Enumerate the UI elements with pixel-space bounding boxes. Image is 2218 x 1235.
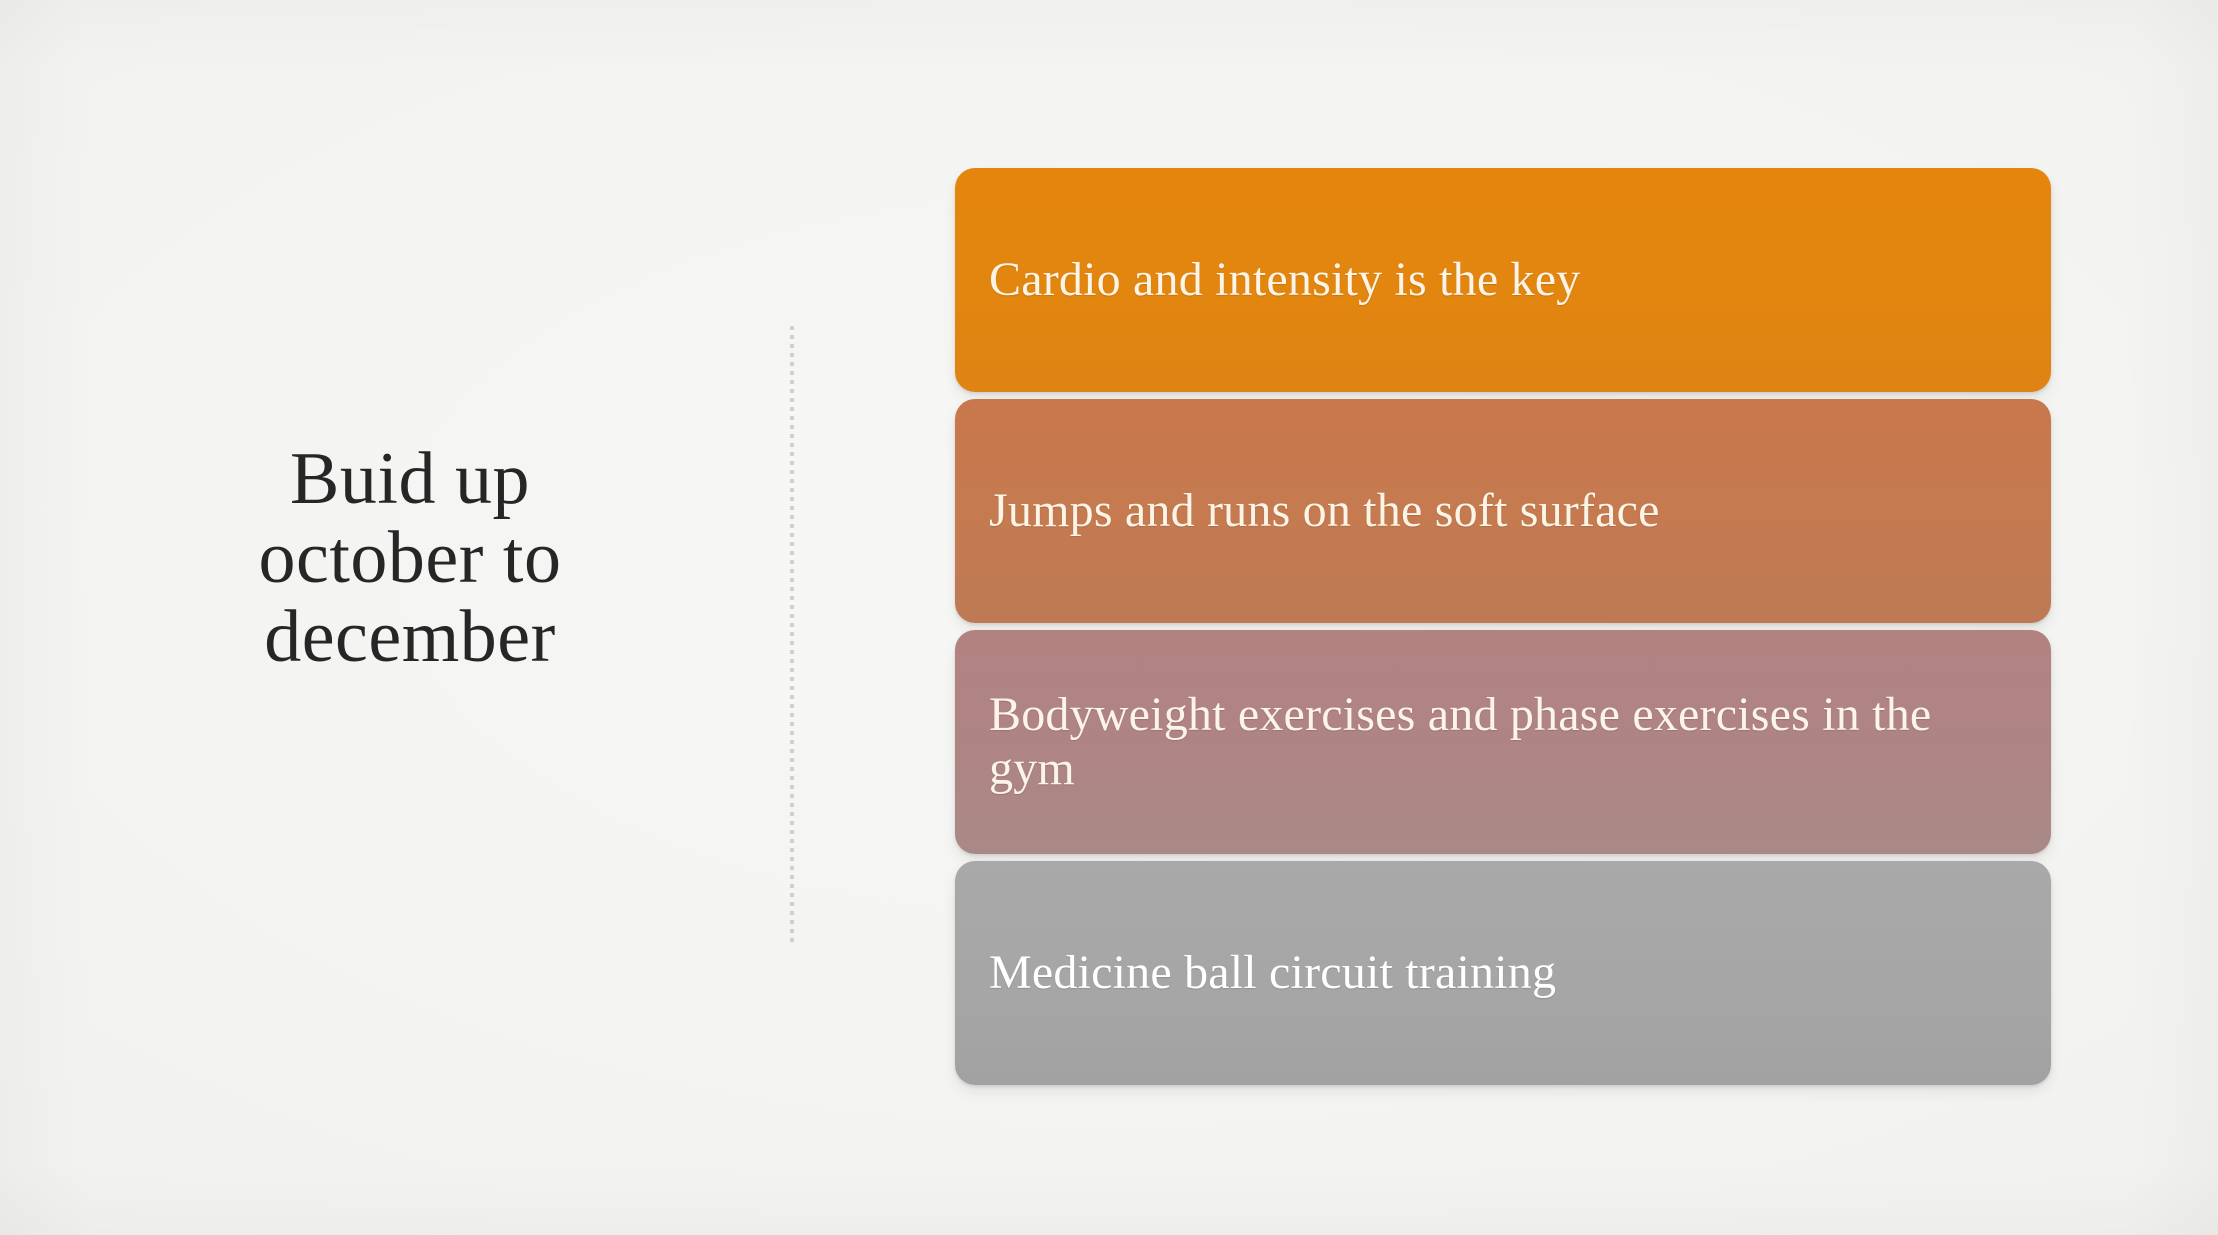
bar-item-jumps-runs[interactable]: Jumps and runs on the soft surface: [955, 399, 2051, 623]
title-line-2: october to: [150, 519, 670, 598]
bar-item-medicine-ball[interactable]: Medicine ball circuit training: [955, 861, 2051, 1085]
bar-list: Cardio and intensity is the key Jumps an…: [955, 168, 2051, 1085]
bar-item-cardio[interactable]: Cardio and intensity is the key: [955, 168, 2051, 392]
title-line-3: december: [150, 598, 670, 677]
bar-item-label: Bodyweight exercises and phase exercises…: [989, 688, 2017, 796]
page-title: Buid up october to december: [150, 440, 670, 678]
bar-item-bodyweight[interactable]: Bodyweight exercises and phase exercises…: [955, 630, 2051, 854]
dotted-vertical-divider: [790, 326, 794, 942]
bar-item-label: Cardio and intensity is the key: [989, 253, 1580, 307]
bar-item-label: Jumps and runs on the soft surface: [989, 484, 1660, 538]
slide-canvas: Buid up october to december Cardio and i…: [0, 0, 2218, 1235]
bar-item-label: Medicine ball circuit training: [989, 946, 1556, 1000]
title-line-1: Buid up: [150, 440, 670, 519]
